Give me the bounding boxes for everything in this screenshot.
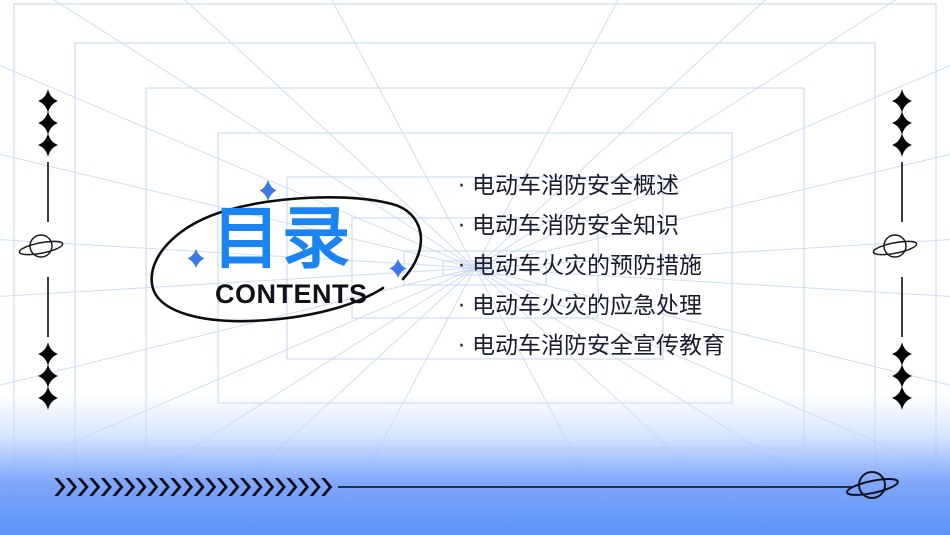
chevron-right-icon (101, 478, 112, 496)
chevron-right-icon (205, 478, 216, 496)
chevron-right-icon (78, 478, 89, 496)
chevron-right-icon (228, 478, 239, 496)
chevron-right-icon (89, 478, 100, 496)
chevron-right-icon (298, 478, 309, 496)
footer-rail (0, 0, 950, 535)
chevron-right-icon (54, 478, 65, 496)
chevron-right-icon (240, 478, 251, 496)
chevron-right-icon (170, 478, 181, 496)
chevron-right-icon (124, 478, 135, 496)
chevron-right-icon (217, 478, 228, 496)
chevron-right-icon (112, 478, 123, 496)
chevron-right-icon (275, 478, 286, 496)
chevron-right-icon (263, 478, 274, 496)
chevron-right-icon (194, 478, 205, 496)
chevron-right-icon (159, 478, 170, 496)
chevron-right-icon (182, 478, 193, 496)
chevron-right-icon (66, 478, 77, 496)
slide-canvas: 目录 CONTENTS · 电动车消防安全概述 · 电动车消防安全知识 · 电动… (0, 0, 950, 535)
chevron-right-icon (147, 478, 158, 496)
chevron-right-icon (252, 478, 263, 496)
saturn-planet-icon (846, 472, 899, 498)
chevron-right-icon (310, 478, 321, 496)
chevron-right-icon (321, 478, 332, 496)
chevron-right-icon (286, 478, 297, 496)
chevron-row (54, 478, 332, 496)
chevron-right-icon (136, 478, 147, 496)
